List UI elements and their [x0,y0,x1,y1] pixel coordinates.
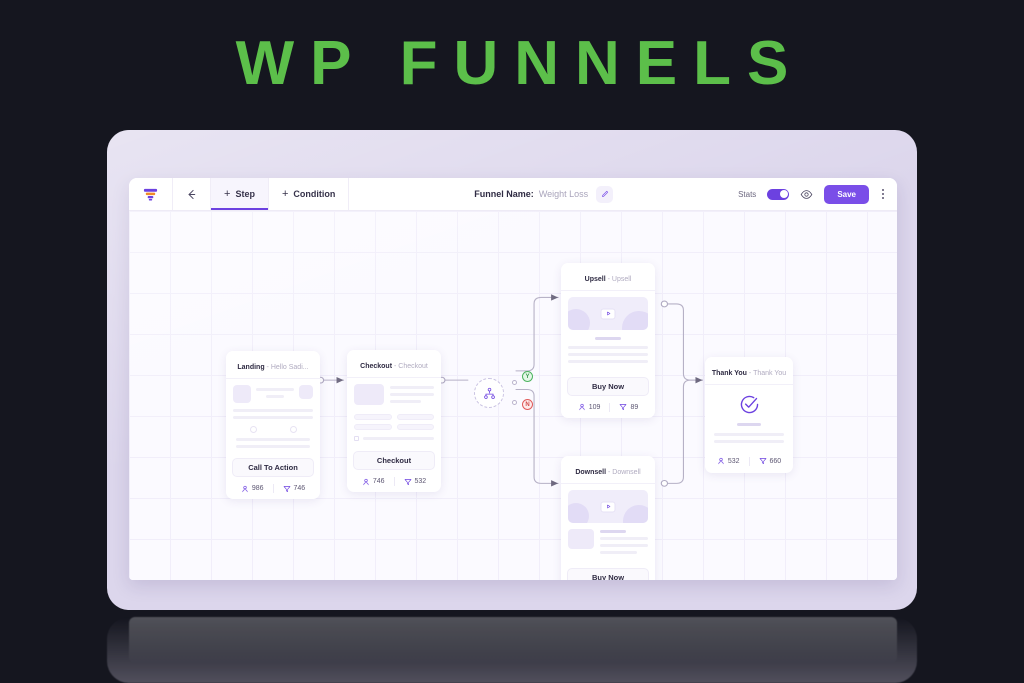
node-checkout-name: Checkout [398,363,428,370]
node-downsell-hero [568,490,648,523]
app-window: + Step + Condition Funnel Name: Weight L… [129,178,897,580]
stat-divider [749,457,750,466]
node-upsell-stats: 109 89 [561,400,655,418]
page-title: WP FUNNELS [0,28,1024,100]
stats-label: Stats [738,190,756,199]
node-checkout-visitors: 746 [362,478,385,486]
node-thankyou-stats: 532 660 [705,451,793,473]
split-branch-icon [483,387,496,400]
tab-step-label: Step [235,189,255,199]
play-icon [605,504,611,510]
user-icon [578,403,586,411]
node-upsell-type: Upsell [585,276,606,283]
node-thankyou-conversions: 660 [759,457,782,465]
node-thankyou-header: Thank You - Thank You [705,357,793,385]
device-reflection [107,617,917,683]
user-icon [241,485,249,493]
stat-divider [609,403,610,412]
node-thankyou-visitors: 532 [717,457,740,465]
node-landing-visitors: 986 [241,485,264,493]
node-upsell-name: Upsell [612,276,631,283]
condition-yes-port[interactable] [512,380,517,385]
node-landing-type: Landing [237,364,264,371]
node-checkout-stats: 746 532 [347,474,441,492]
node-landing-conversions-value: 746 [294,485,306,492]
node-landing-stats: 986 746 [226,481,320,499]
node-downsell-header: Downsell - Downsell [561,456,655,484]
node-upsell-preview [561,291,655,372]
edge-upsell-thankyou [664,304,702,380]
node-landing-name: Hello Sadi... [271,364,309,371]
funnel-name-value: Weight Loss [539,189,588,199]
node-landing-header: Landing - Hello Sadi... [226,351,320,379]
node-thankyou-name: Thank You [753,370,786,377]
pencil-icon [601,190,609,198]
node-thankyou[interactable]: Thank You - Thank You [705,357,793,473]
node-thankyou-preview [705,385,793,451]
node-landing-visitors-value: 986 [252,485,264,492]
play-button-icon [601,501,616,512]
funnel-icon [283,485,291,493]
tab-condition-label: Condition [293,189,335,199]
edge-condition-upsell [516,297,558,370]
funnel-icon [619,403,627,411]
stat-divider [394,477,395,486]
tab-condition[interactable]: + Condition [269,178,349,210]
toggle-knob [780,190,788,198]
node-upsell[interactable]: Upsell - Upsell [561,263,655,418]
stat-divider [273,484,274,493]
node-downsell-cta[interactable]: Buy Now [567,568,649,581]
funnel-icon [404,478,412,486]
node-upsell-hero [568,297,648,330]
play-icon [605,311,611,317]
node-upsell-conversions: 89 [619,403,638,411]
condition-yes-badge: Y [522,371,533,382]
funnel-name-label: Funnel Name: [474,189,534,199]
node-upsell-conversions-value: 89 [630,404,638,411]
funnel-logo-icon [143,187,158,202]
node-landing[interactable]: Landing - Hello Sadi... [226,351,320,499]
node-downsell-preview [561,484,655,563]
node-checkout-header: Checkout - Checkout [347,350,441,378]
condition-no-badge: N [522,399,533,410]
node-landing-conversions: 746 [283,485,306,493]
node-checkout-visitors-value: 746 [373,478,385,485]
node-upsell-header: Upsell - Upsell [561,263,655,291]
node-checkout-conversions: 532 [404,478,427,486]
play-button-icon [601,308,616,319]
condition-no-port[interactable] [512,400,517,405]
node-downsell[interactable]: Downsell - Downsell [561,456,655,580]
kebab-menu-icon[interactable] [880,189,886,199]
node-checkout-preview [347,378,441,446]
tab-step[interactable]: + Step [211,178,269,210]
node-thankyou-conversions-value: 660 [770,458,782,465]
toolbar: + Step + Condition Funnel Name: Weight L… [129,178,897,211]
node-downsell-name: Downsell [612,469,640,476]
plus-icon: + [282,188,288,200]
node-checkout-type: Checkout [360,363,392,370]
plus-icon: + [224,188,230,200]
funnel-name-area: Funnel Name: Weight Loss [349,178,738,210]
check-circle-icon [739,394,760,415]
device-frame: + Step + Condition Funnel Name: Weight L… [107,130,917,610]
edit-funnel-name-button[interactable] [596,186,613,203]
node-thankyou-visitors-value: 532 [728,458,740,465]
node-upsell-cta[interactable]: Buy Now [567,377,649,396]
user-icon [362,478,370,486]
node-upsell-visitors-value: 109 [589,404,601,411]
save-button[interactable]: Save [824,185,869,204]
wpfunnels-logo[interactable] [129,178,173,210]
toolbar-actions: Stats Save [738,178,897,210]
node-checkout-cta[interactable]: Checkout [353,451,435,470]
user-icon [717,457,725,465]
node-checkout-conversions-value: 532 [415,478,427,485]
eye-icon [800,188,813,201]
preview-button[interactable] [800,188,813,201]
condition-node[interactable] [474,378,504,408]
node-landing-cta[interactable]: Call To Action [232,458,314,477]
node-checkout[interactable]: Checkout - Checkout [347,350,441,492]
funnel-icon [759,457,767,465]
node-upsell-visitors: 109 [578,403,601,411]
node-downsell-type: Downsell [575,469,606,476]
reflection-window [129,617,897,663]
edge-downsell-thankyou [664,380,702,483]
node-thankyou-type: Thank You [712,370,747,377]
funnel-canvas[interactable]: Landing - Hello Sadi... [129,211,897,580]
stats-toggle[interactable] [767,189,789,200]
arrow-left-icon [185,188,198,201]
back-button[interactable] [173,178,211,210]
node-landing-preview [226,379,320,453]
